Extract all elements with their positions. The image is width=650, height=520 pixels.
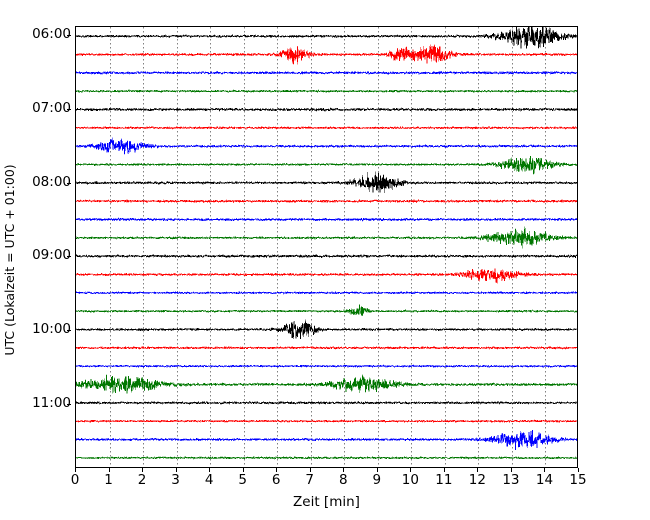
y-axis-tick-label: 08:00 xyxy=(13,176,71,190)
y-axis-tick-label: 06:00 xyxy=(13,28,71,42)
seismogram-trace xyxy=(76,108,577,111)
x-axis-tick-label: 10 xyxy=(395,472,425,488)
x-axis-tick-label: 13 xyxy=(496,472,526,488)
y-axis-tick: 06:00 xyxy=(0,35,71,36)
x-axis-tick-label: 3 xyxy=(161,472,191,488)
x-axis-tick-label: 2 xyxy=(127,472,157,488)
seismogram-trace xyxy=(76,90,577,92)
seismogram-trace xyxy=(76,172,577,193)
x-axis-tick-label: 7 xyxy=(295,472,325,488)
x-axis-tick-label: 6 xyxy=(261,472,291,488)
y-axis-tick: 10:00 xyxy=(0,330,71,331)
x-axis-tick-label: 12 xyxy=(462,472,492,488)
seismogram-trace xyxy=(76,156,577,174)
seismogram-trace xyxy=(76,255,577,258)
seismogram-trace xyxy=(76,402,577,405)
seismogram-trace xyxy=(76,45,577,64)
seismogram-trace xyxy=(76,138,577,154)
seismogram-trace xyxy=(76,200,577,203)
x-axis-tick-label: 4 xyxy=(194,472,224,488)
y-axis-tick-label: 09:00 xyxy=(13,249,71,263)
y-axis-tick: 07:00 xyxy=(0,109,71,110)
x-axis-tick-label: 1 xyxy=(94,472,124,488)
seismogram-trace xyxy=(76,27,577,48)
seismogram-trace xyxy=(76,269,577,283)
seismogram-trace xyxy=(76,320,577,339)
trace-layer xyxy=(76,27,577,467)
seismogram-trace xyxy=(76,375,577,393)
seismogram-trace xyxy=(76,218,577,221)
x-axis-tick-label: 9 xyxy=(362,472,392,488)
seismogram-trace xyxy=(76,347,577,349)
seismogram-trace xyxy=(76,430,577,449)
x-axis-tick-label: 11 xyxy=(429,472,459,488)
x-axis-tick-label: 14 xyxy=(529,472,559,488)
seismogram-trace xyxy=(76,420,577,422)
x-axis-tick-label: 8 xyxy=(328,472,358,488)
seismogram-trace xyxy=(76,305,577,316)
y-axis-tick: 11:00 xyxy=(0,404,71,405)
y-axis-tick-label: 10:00 xyxy=(13,323,71,337)
seismogram-trace xyxy=(76,292,577,294)
x-axis-tick-label: 5 xyxy=(228,472,258,488)
y-axis-tick: 08:00 xyxy=(0,183,71,184)
y-axis-tick-label: 07:00 xyxy=(13,102,71,116)
seismogram-trace xyxy=(76,457,577,459)
y-axis-tick: 09:00 xyxy=(0,256,71,257)
x-axis-label: Zeit [min] xyxy=(75,494,578,510)
seismogram-trace xyxy=(76,127,577,129)
x-axis-tick-label: 0 xyxy=(60,472,90,488)
x-axis-tick-label: 15 xyxy=(563,472,593,488)
seismogram-trace xyxy=(76,72,577,75)
seismogram-trace xyxy=(76,365,577,367)
plot-area xyxy=(75,26,578,468)
y-axis-tick-label: 11:00 xyxy=(13,397,71,411)
seismogram-trace xyxy=(76,227,577,248)
seismogram-figure: UTC (Lokalzeit = UTC + 01:00) 06:0007:00… xyxy=(0,0,650,520)
